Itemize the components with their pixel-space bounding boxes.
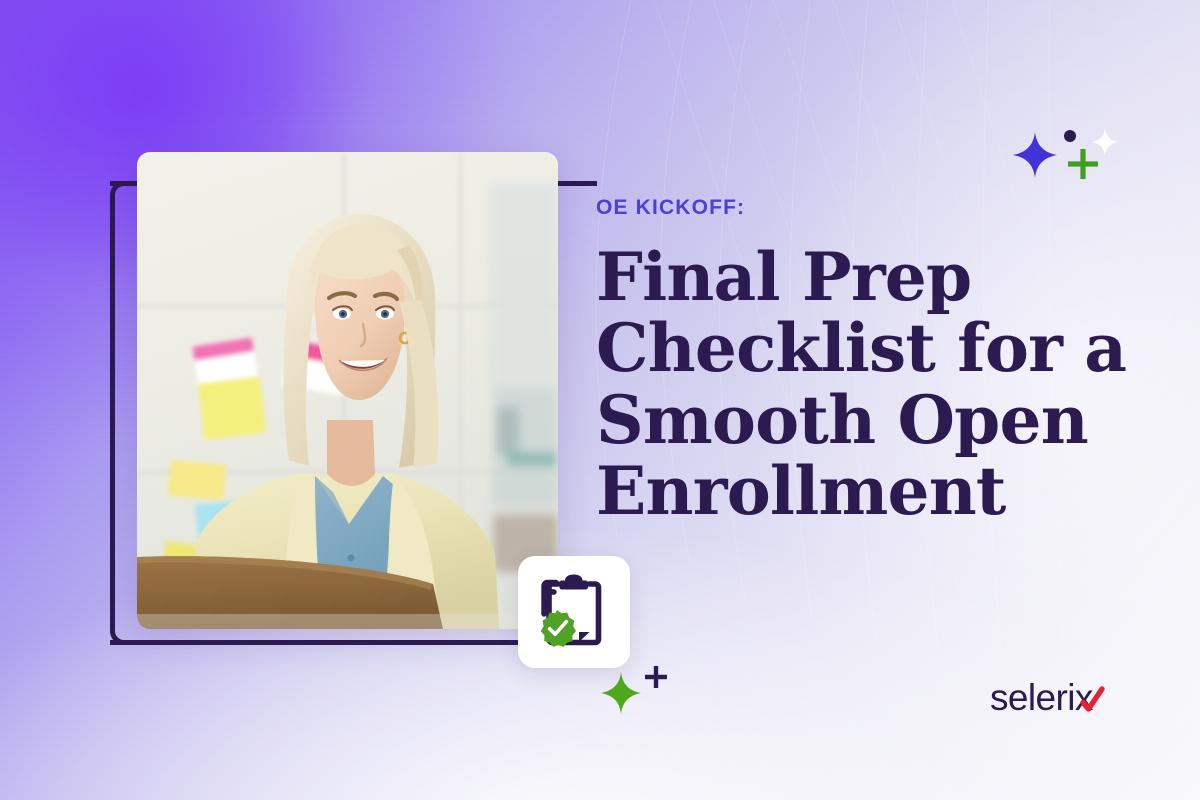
clipboard-check-badge xyxy=(518,556,630,668)
svg-text:selerix: selerix xyxy=(990,679,1094,718)
eyebrow-label: OE KICKOFF: xyxy=(596,196,1156,219)
sparkle-star-icon-green xyxy=(601,672,641,714)
selerix-logo[interactable]: selerix xyxy=(990,679,1115,721)
headline-line-4: Enrollment xyxy=(596,456,1156,527)
plus-icon-green xyxy=(1068,149,1098,179)
headline-line-3: Smooth Open xyxy=(596,385,1156,456)
dot-icon-navy xyxy=(1064,130,1076,142)
headline-line-1: Final Prep xyxy=(596,242,1156,313)
hero-photo xyxy=(137,152,558,629)
sparkle-star-icon-blue xyxy=(1013,132,1057,178)
page-title: Final Prep Checklist for a Smooth Open E… xyxy=(596,242,1156,527)
headline-block: OE KICKOFF: Final Prep Checklist for a S… xyxy=(596,196,1156,527)
headline-line-2: Checklist for a xyxy=(596,313,1156,384)
banner-canvas: OE KICKOFF: Final Prep Checklist for a S… xyxy=(0,0,1200,800)
plus-icon-navy xyxy=(645,666,667,688)
